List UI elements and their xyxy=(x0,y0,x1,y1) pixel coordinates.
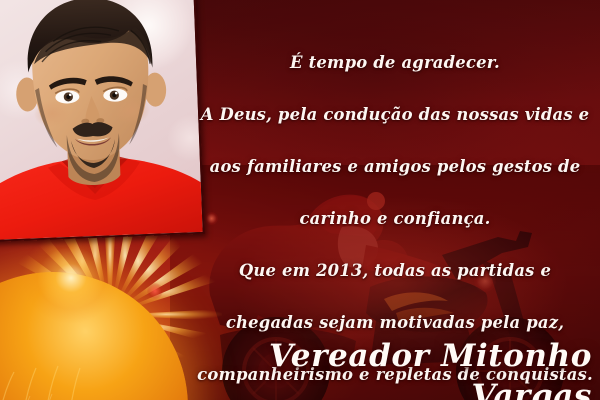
portrait-photo xyxy=(0,0,203,240)
message-line: aos familiares e amigos pelos gestos de xyxy=(196,154,594,180)
message-line: chegadas sejam motivadas pela paz, xyxy=(196,310,594,336)
message-line: Que em 2013, todas as partidas e xyxy=(196,258,594,284)
portrait-subject xyxy=(0,0,203,240)
message-line: A Deus, pela condução das nossas vidas e xyxy=(196,102,594,128)
greeting-card: É tempo de agradecer. A Deus, pela condu… xyxy=(0,0,600,400)
signature-name: Vereador Mitonho Vargas xyxy=(188,336,592,400)
portrait-photo-frame xyxy=(0,0,205,242)
message-line: carinho e confiança. xyxy=(196,206,594,232)
message-line: É tempo de agradecer. xyxy=(196,50,594,76)
